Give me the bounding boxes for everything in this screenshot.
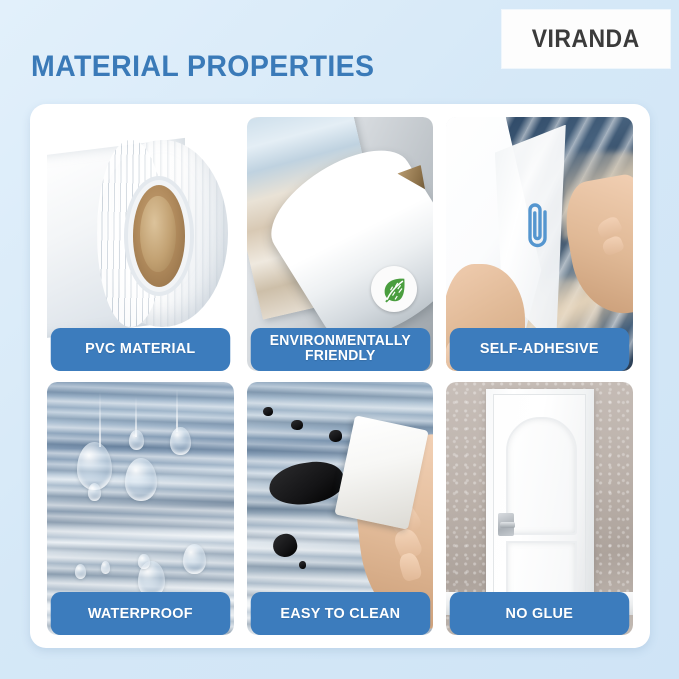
stain-small-2 xyxy=(329,430,342,443)
water-droplet-7 xyxy=(75,564,86,579)
brand-name: VIRANDA xyxy=(532,25,640,54)
pvc-core-inner-shape xyxy=(140,196,175,272)
water-droplet-2 xyxy=(125,458,157,501)
feature-card-grid: PVC MATERIAL xyxy=(47,117,633,635)
feature-card-waterproof[interactable]: WATERPROOF xyxy=(47,382,234,636)
water-droplet-8 xyxy=(101,561,110,574)
water-droplet-4 xyxy=(129,430,144,450)
droplet-trail-3-shape xyxy=(176,389,178,432)
feature-card-no-glue[interactable]: NO GLUE xyxy=(446,382,633,636)
paperclip-icon xyxy=(521,198,555,259)
feature-card-environmentally-friendly[interactable]: ENVIRONMENTALLY FRIENDLY xyxy=(247,117,434,371)
water-droplet-6 xyxy=(183,544,205,574)
clean-finger-3-shape xyxy=(396,551,422,582)
door-handle-lever-shape xyxy=(500,522,515,528)
brand-logo-box: VIRANDA xyxy=(502,10,670,68)
feature-card-self-adhesive[interactable]: SELF-ADHESIVE xyxy=(446,117,633,371)
card-label-pvc-material: PVC MATERIAL xyxy=(51,328,230,371)
stain-dot xyxy=(299,561,306,569)
card-label-no-glue: NO GLUE xyxy=(450,592,629,635)
water-droplet-10 xyxy=(88,483,101,501)
water-droplet-9 xyxy=(138,554,149,569)
stain-medium xyxy=(270,531,299,559)
feature-card-easy-to-clean[interactable]: EASY TO CLEAN xyxy=(247,382,434,636)
feature-card-pvc-material[interactable]: PVC MATERIAL xyxy=(47,117,234,371)
door-panel-top-shape xyxy=(506,417,577,535)
leaf-icon xyxy=(371,266,417,312)
card-label-self-adhesive: SELF-ADHESIVE xyxy=(450,328,629,371)
water-droplet-3 xyxy=(170,427,191,455)
product-feature-infographic: VIRANDA MATERIAL PROPERTIES PVC MATERIAL xyxy=(0,0,679,679)
stain-large xyxy=(266,457,346,509)
cards-panel: PVC MATERIAL xyxy=(30,104,650,648)
droplet-trail-1-shape xyxy=(99,392,101,448)
stain-small-1 xyxy=(291,420,302,430)
card-label-easy-to-clean: EASY TO CLEAN xyxy=(250,592,429,635)
card-label-environmentally-friendly: ENVIRONMENTALLY FRIENDLY xyxy=(250,328,429,371)
card-label-waterproof: WATERPROOF xyxy=(51,592,230,635)
page-title: MATERIAL PROPERTIES xyxy=(31,50,374,84)
stain-small-3 xyxy=(263,407,272,416)
